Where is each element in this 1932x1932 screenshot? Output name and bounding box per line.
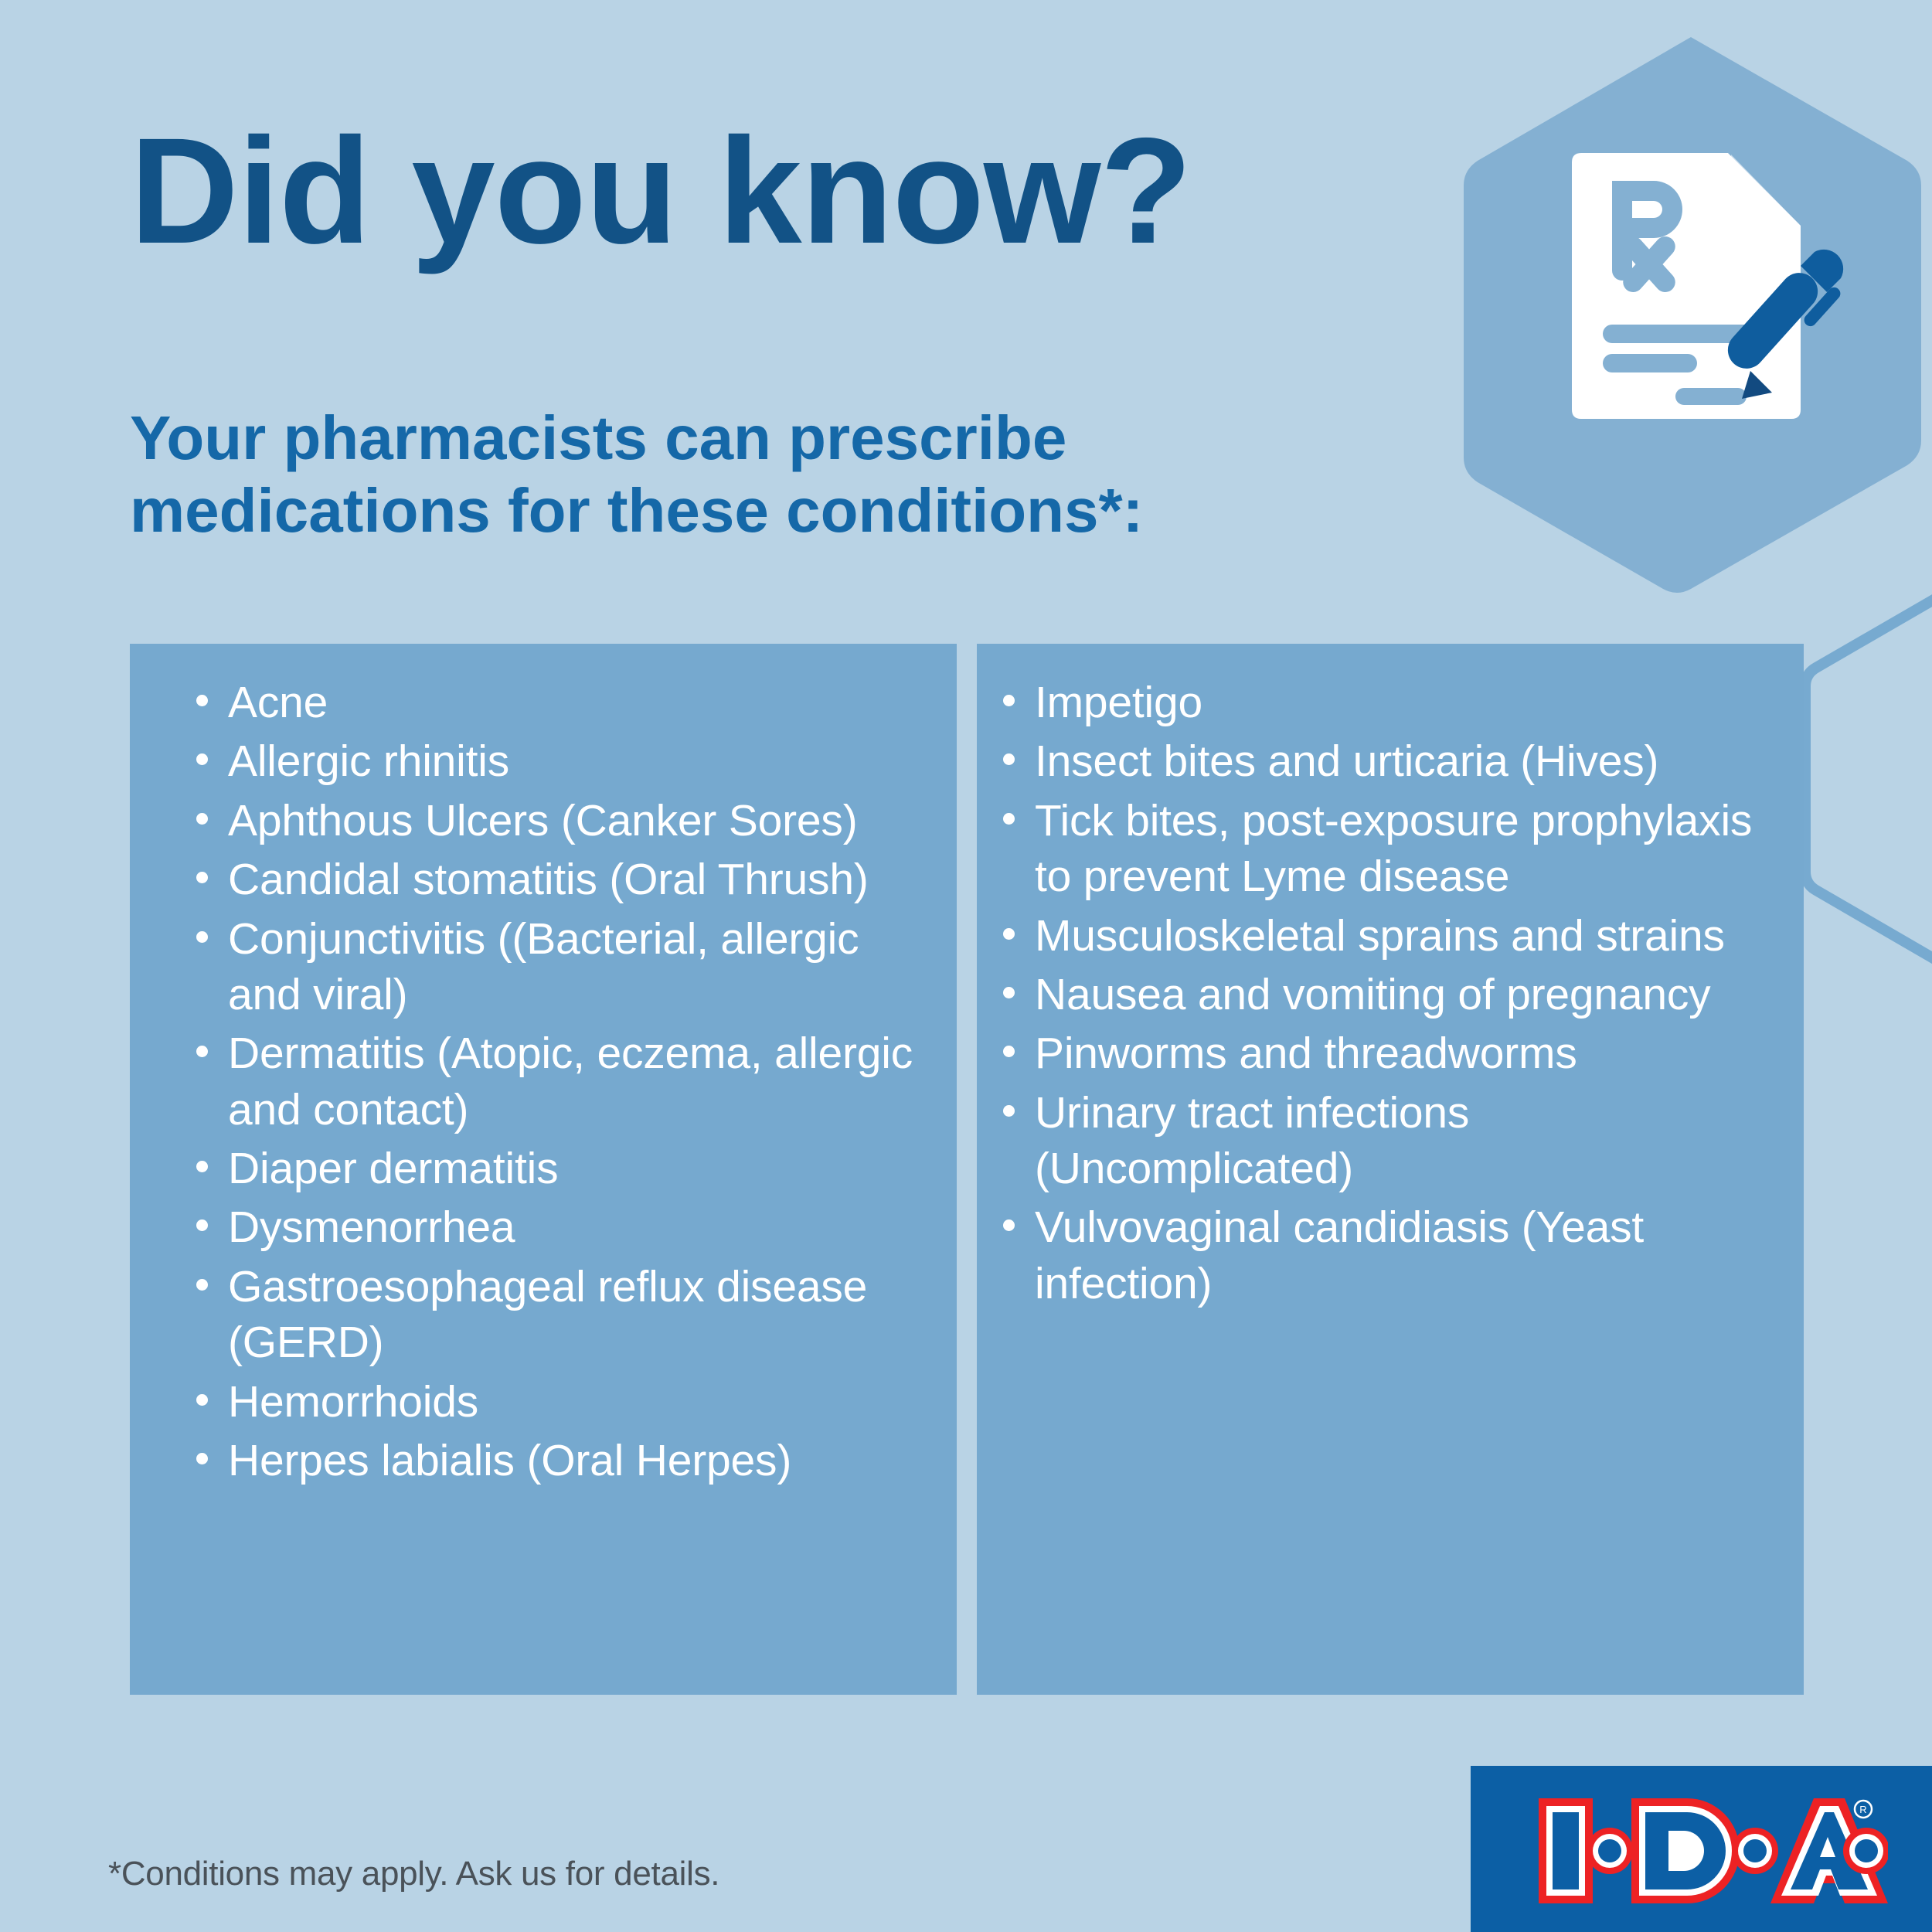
conditions-panel-left: AcneAllergic rhinitisAphthous Ulcers (Ca… [130, 644, 957, 1695]
condition-label: Candidal stomatitis (Oral Thrush) [228, 855, 869, 904]
condition-list-item: Hemorrhoids [193, 1374, 935, 1430]
condition-list-item: Gastroesophageal reflux disease (GERD) [193, 1259, 935, 1371]
condition-list-item: Musculoskeletal sprains and strains [1000, 908, 1788, 964]
ida-logo-block: R [1471, 1766, 1932, 1932]
condition-list-item: Diaper dermatitis [193, 1141, 935, 1196]
condition-label: Hemorrhoids [228, 1377, 478, 1427]
bullet-icon [196, 1046, 208, 1057]
ida-logo-icon: R [1532, 1789, 1888, 1913]
condition-list-item: Conjunctivitis ((Bacterial, allergic and… [193, 911, 935, 1023]
condition-label: Vulvovaginal candidiasis (Yeast infectio… [1035, 1202, 1644, 1308]
bullet-icon [1003, 1105, 1015, 1117]
condition-label: Diaper dermatitis [228, 1144, 558, 1193]
condition-label: Impetigo [1035, 678, 1202, 727]
subtitle-line-2: medications for these conditions*: [130, 474, 1289, 547]
conditions-list-right: ImpetigoInsect bites and urticaria (Hive… [1000, 675, 1788, 1315]
bullet-icon [1003, 695, 1015, 706]
condition-label: Dermatitis (Atopic, eczema, allergic and… [228, 1029, 913, 1134]
condition-list-item: Vulvovaginal candidiasis (Yeast infectio… [1000, 1199, 1788, 1311]
pen-icon [1720, 250, 1843, 399]
condition-label: Pinworms and threadworms [1035, 1029, 1577, 1078]
hexagon-shape [1451, 31, 1930, 595]
condition-label: Dysmenorrhea [228, 1202, 515, 1252]
condition-list-item: Nausea and vomiting of pregnancy [1000, 967, 1788, 1022]
bullet-icon [196, 1161, 208, 1172]
hexagon-outline-shape [1801, 572, 1932, 974]
svg-text:R: R [1859, 1804, 1866, 1815]
subtitle-line-1: Your pharmacists can prescribe [130, 402, 1289, 474]
condition-list-item: Candidal stomatitis (Oral Thrush) [193, 852, 935, 907]
condition-list-item: Allergic rhinitis [193, 733, 935, 789]
footnote-text: *Conditions may apply. Ask us for detail… [108, 1855, 719, 1893]
condition-list-item: Acne [193, 675, 935, 730]
condition-list-item: Tick bites, post-exposure prophylaxis to… [1000, 793, 1788, 905]
bullet-icon [1003, 987, 1015, 998]
bullet-icon [196, 1394, 208, 1406]
condition-list-item: Aphthous Ulcers (Canker Sores) [193, 793, 935, 849]
bullet-icon [196, 931, 208, 943]
infographic-poster: Did you know? Your pharmacists can presc… [0, 0, 1932, 1932]
condition-list-item: Pinworms and threadworms [1000, 1026, 1788, 1081]
condition-label: Herpes labialis (Oral Herpes) [228, 1436, 791, 1485]
conditions-panel-right: ImpetigoInsect bites and urticaria (Hive… [977, 644, 1804, 1695]
bullet-icon [196, 872, 208, 883]
conditions-list-left: AcneAllergic rhinitisAphthous Ulcers (Ca… [193, 675, 935, 1492]
bullet-icon [196, 813, 208, 825]
condition-label: Urinary tract infections (Uncomplicated) [1035, 1088, 1469, 1193]
subtitle: Your pharmacists can prescribe medicatio… [130, 402, 1289, 548]
condition-label: Insect bites and urticaria (Hives) [1035, 736, 1658, 786]
bullet-icon [196, 1219, 208, 1231]
condition-label: Conjunctivitis ((Bacterial, allergic and… [228, 914, 859, 1019]
condition-label: Nausea and vomiting of pregnancy [1035, 970, 1710, 1019]
bullet-icon [1003, 1046, 1015, 1057]
bullet-icon [1003, 928, 1015, 940]
condition-list-item: Insect bites and urticaria (Hives) [1000, 733, 1788, 789]
condition-label: Acne [228, 678, 328, 727]
prescription-document-icon [1572, 153, 1801, 419]
bullet-icon [196, 1453, 208, 1464]
condition-label: Aphthous Ulcers (Canker Sores) [228, 796, 858, 845]
condition-label: Gastroesophageal reflux disease (GERD) [228, 1262, 867, 1367]
bullet-icon [1003, 813, 1015, 825]
condition-list-item: Urinary tract infections (Uncomplicated) [1000, 1085, 1788, 1197]
page-title: Did you know? [130, 116, 1192, 267]
condition-list-item: Dermatitis (Atopic, eczema, allergic and… [193, 1026, 935, 1138]
condition-list-item: Dysmenorrhea [193, 1199, 935, 1255]
condition-list-item: Herpes labialis (Oral Herpes) [193, 1433, 935, 1488]
bullet-icon [196, 695, 208, 706]
bullet-icon [1003, 753, 1015, 765]
condition-label: Tick bites, post-exposure prophylaxis to… [1035, 796, 1752, 901]
condition-list-item: Impetigo [1000, 675, 1788, 730]
bullet-icon [1003, 1219, 1015, 1231]
condition-label: Allergic rhinitis [228, 736, 509, 786]
condition-label: Musculoskeletal sprains and strains [1035, 911, 1725, 961]
bullet-icon [196, 753, 208, 765]
bullet-icon [196, 1279, 208, 1291]
